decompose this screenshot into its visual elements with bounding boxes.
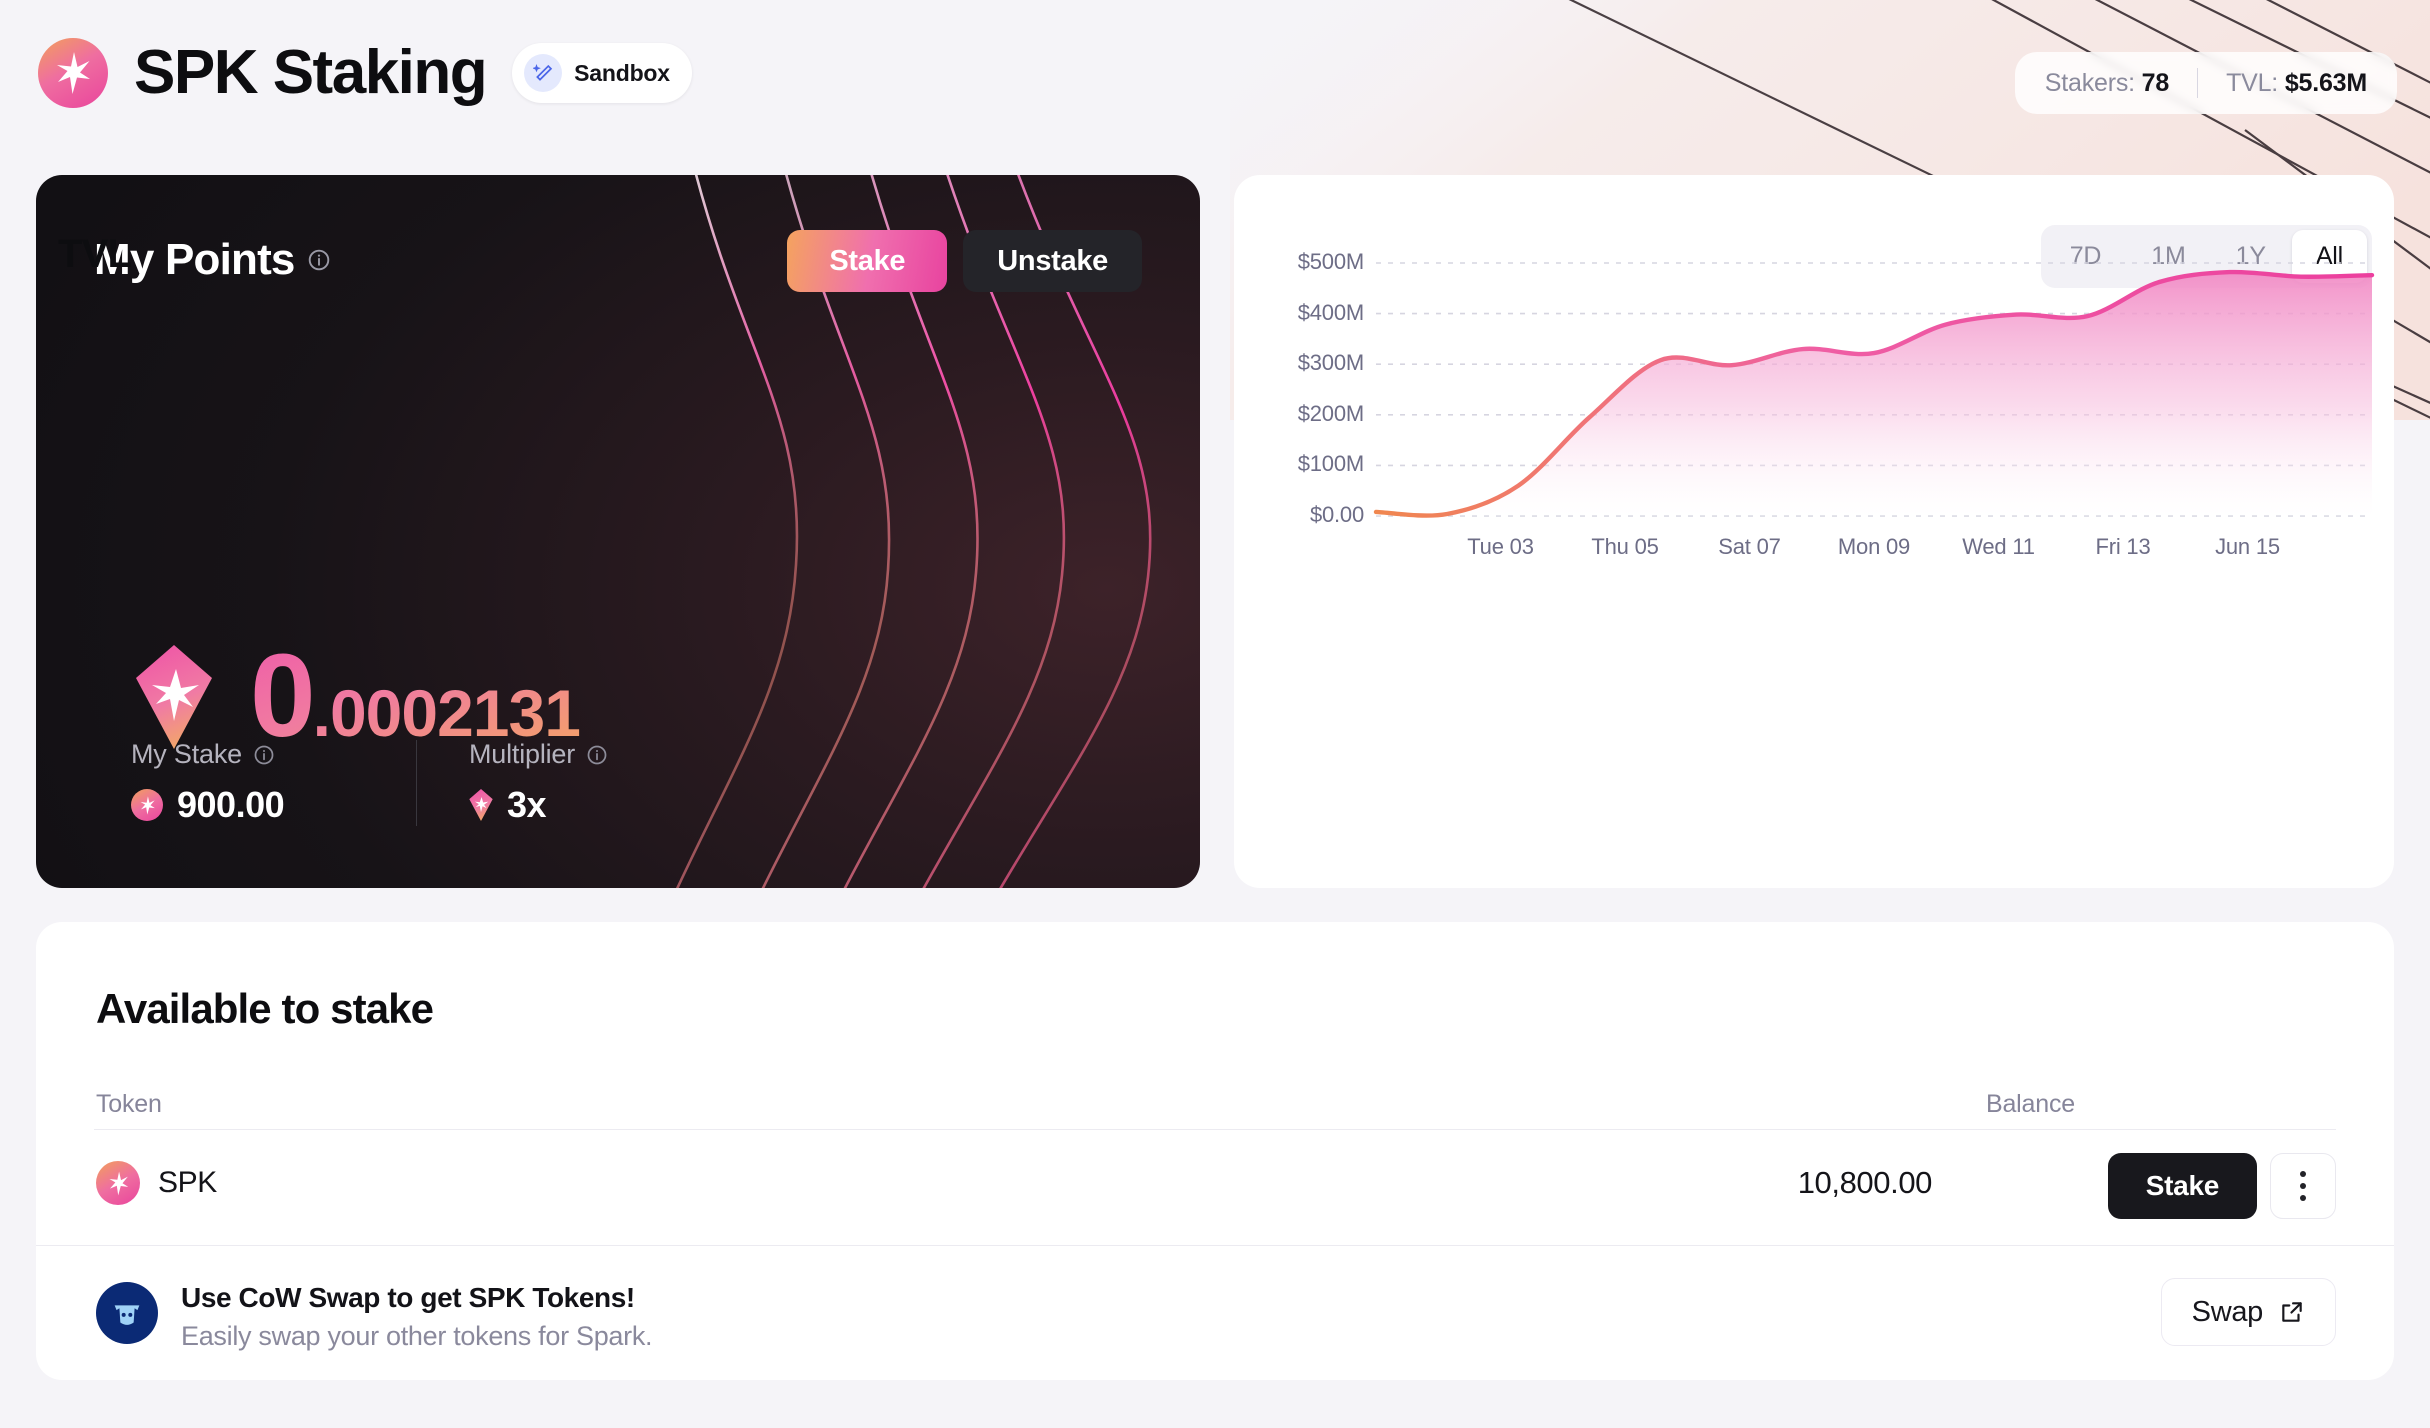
swap-button[interactable]: Swap (2161, 1278, 2336, 1346)
app-header: SPK Staking Sandbox (38, 38, 692, 108)
stat-tvl-label: TVL: (2226, 69, 2278, 97)
points-metrics: My Stake 900.00 Multipl (131, 739, 744, 826)
range-tab-1y[interactable]: 1Y (2212, 230, 2290, 283)
page-title: SPK Staking (134, 42, 486, 104)
unstake-tab-button[interactable]: Unstake (963, 230, 1142, 292)
metric-multiplier-label-row: Multiplier (469, 739, 744, 770)
kebab-dot (2300, 1195, 2306, 1201)
column-header-token: Token (96, 1090, 162, 1119)
star-glyph (106, 1171, 131, 1196)
points-integer: 0 (250, 645, 313, 749)
banner-title: Use CoW Swap to get SPK Tokens! (181, 1282, 652, 1314)
info-icon[interactable] (253, 744, 275, 766)
metric-multiplier: Multiplier 3x (469, 739, 744, 826)
stat-stakers-value: 78 (2142, 69, 2169, 97)
points-fraction: .0002131 (313, 684, 580, 742)
metrics-divider (416, 740, 417, 826)
spk-coin-icon (96, 1161, 140, 1205)
available-to-stake-title: Available to stake (96, 985, 433, 1033)
sandbox-badge[interactable]: Sandbox (512, 43, 692, 103)
magic-wand-icon (524, 54, 562, 92)
available-to-stake-panel: Available to stake Token Balance SPK 10,… (36, 922, 2394, 1380)
token-balance: 10,800.00 (1798, 1165, 1932, 1201)
stat-tvl-value: $5.63M (2285, 69, 2367, 97)
stats-divider (2197, 68, 2198, 98)
range-tab-7d[interactable]: 7D (2046, 230, 2126, 283)
banner-subtitle: Easily swap your other tokens for Spark. (181, 1321, 652, 1352)
range-tab-all[interactable]: All (2292, 230, 2367, 283)
range-tab-1m[interactable]: 1M (2127, 230, 2209, 283)
row-stake-button[interactable]: Stake (2108, 1153, 2257, 1219)
token-symbol: SPK (158, 1166, 217, 1200)
metric-my-stake-label-row: My Stake (131, 739, 406, 770)
info-icon[interactable] (307, 248, 331, 272)
token-cell: SPK (96, 1161, 217, 1205)
tvl-title: TVL (58, 232, 131, 277)
page-root: SPK Staking Sandbox Stakers: 78 TVL: $5.… (0, 0, 2430, 1428)
metric-multiplier-value: 3x (507, 784, 546, 826)
column-header-balance: Balance (1986, 1090, 2075, 1119)
swap-button-label: Swap (2192, 1296, 2263, 1329)
kebab-menu-icon[interactable] (2270, 1153, 2336, 1219)
external-link-icon (2279, 1299, 2305, 1325)
global-stats: Stakers: 78 TVL: $5.63M (2015, 52, 2397, 114)
spk-coin-icon (131, 789, 163, 821)
banner-text: Use CoW Swap to get SPK Tokens! Easily s… (181, 1282, 652, 1352)
my-points-card: My Points Stake Unstake 0 .0002131 (36, 175, 1200, 888)
metric-my-stake-value: 900.00 (177, 784, 284, 826)
stake-tab-button[interactable]: Stake (787, 230, 947, 292)
tvl-range-tabs: 7D 1M 1Y All (2041, 225, 2372, 288)
metric-my-stake-label: My Stake (131, 739, 242, 770)
table-row: SPK 10,800.00 Stake (36, 1129, 2394, 1245)
star-glyph (138, 796, 157, 815)
points-value: 0 .0002131 (136, 645, 580, 749)
stat-tvl: TVL: $5.63M (2226, 69, 2367, 98)
sandbox-label: Sandbox (574, 60, 670, 87)
metric-my-stake-value-row: 900.00 (131, 784, 406, 826)
metric-my-stake: My Stake 900.00 (131, 739, 406, 826)
points-amount: 0 .0002131 (250, 645, 580, 749)
spark-gem-icon (469, 789, 493, 821)
star-glyph (55, 51, 91, 95)
metric-multiplier-value-row: 3x (469, 784, 744, 826)
info-icon[interactable] (586, 744, 608, 766)
kebab-dot (2300, 1183, 2306, 1189)
cow-swap-logo (96, 1282, 158, 1344)
spark-star-logo (38, 38, 108, 108)
cow-swap-banner: Use CoW Swap to get SPK Tokens! Easily s… (36, 1246, 2394, 1380)
spark-gem-icon (136, 645, 212, 749)
metric-multiplier-label: Multiplier (469, 739, 575, 770)
stat-stakers: Stakers: 78 (2045, 69, 2169, 98)
cow-face-glyph (108, 1294, 146, 1332)
stake-unstake-toggle: Stake Unstake (787, 230, 1142, 292)
stat-stakers-label: Stakers: (2045, 69, 2135, 97)
kebab-dot (2300, 1171, 2306, 1177)
